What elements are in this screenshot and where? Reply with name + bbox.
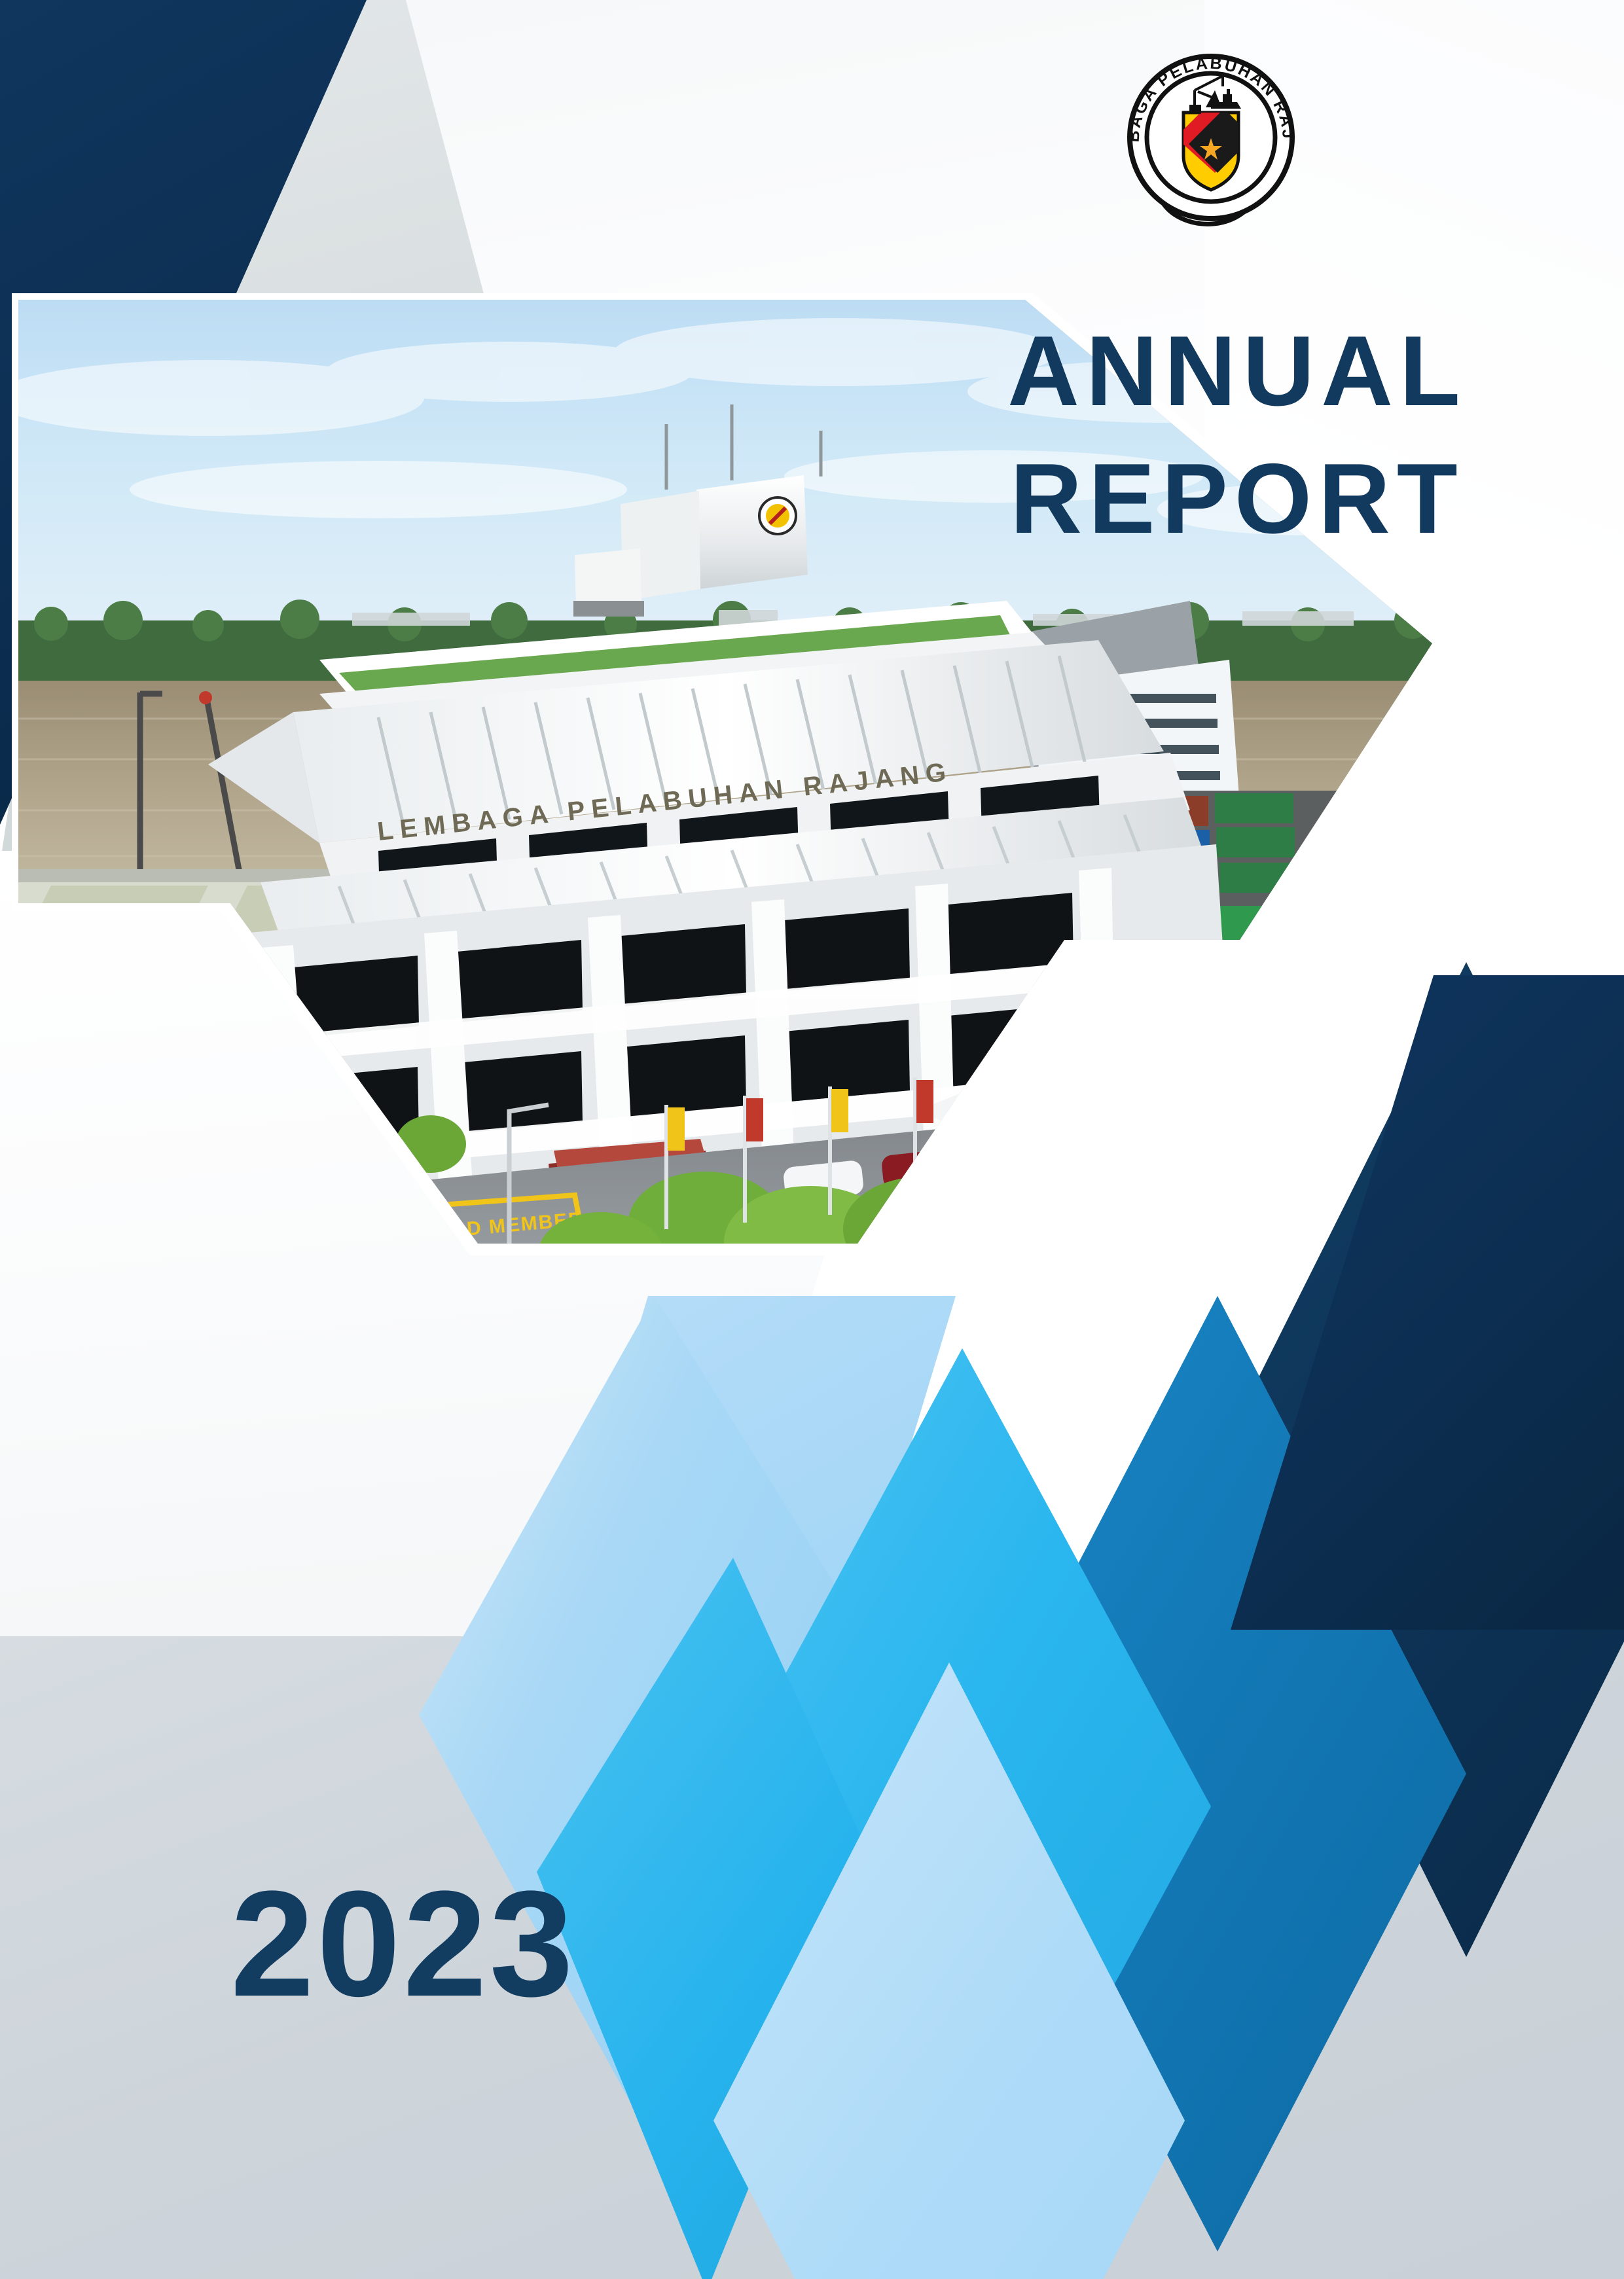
page-title-line-1: ANNUAL — [969, 308, 1506, 435]
cover-title-block: ANNUAL REPORT — [969, 308, 1506, 562]
report-year: 2023 — [230, 1869, 576, 2019]
page-title-line-2: REPORT — [969, 435, 1506, 563]
annual-report-cover: LEMBAGA PELABUHAN RAJANG — [0, 0, 1624, 2279]
organization-logo: LEMBAGA PELABUHAN RAJANG — [1113, 39, 1309, 236]
